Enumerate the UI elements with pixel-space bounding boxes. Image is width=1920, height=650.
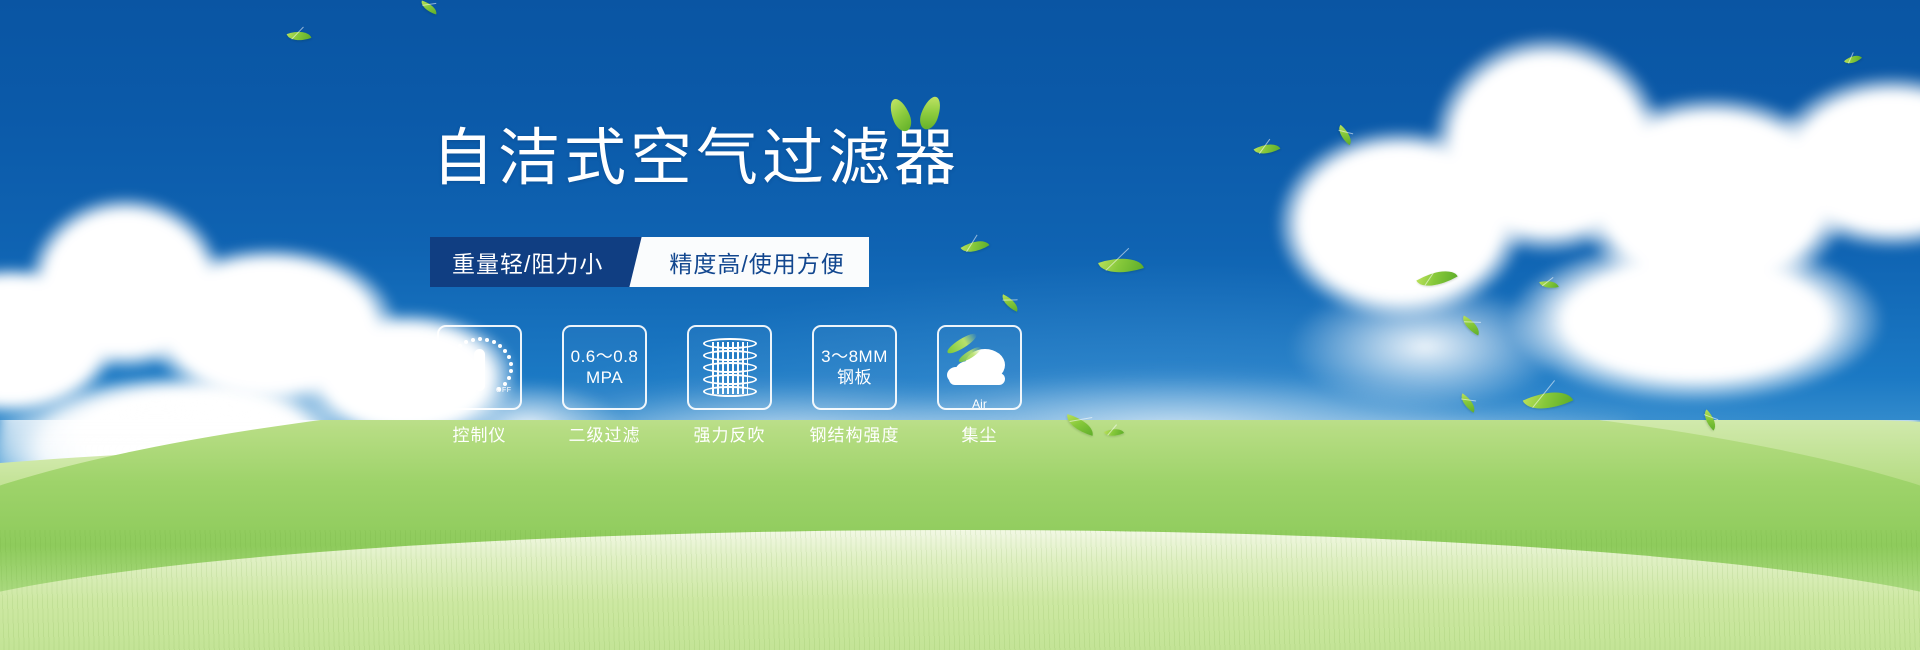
air-cloud-icon: Air: [947, 341, 1013, 395]
subtitle-badge-divider: [629, 237, 663, 287]
feature-label: 集尘: [962, 421, 998, 446]
feature-icon-box: NO OFF: [437, 325, 522, 410]
filter-cartridge-icon: [703, 338, 757, 398]
feature-icon-box: [687, 325, 772, 410]
pressure-text-icon: 0.6～0.8 MPA: [571, 347, 639, 387]
feature-item-pressure: 0.6～0.8 MPA 二级过滤: [557, 325, 652, 446]
feature-icon-box: 0.6～0.8 MPA: [562, 325, 647, 410]
title-block: 自洁式空气过滤器: [432, 128, 960, 190]
steel-text-icon: 3～8MM 钢板: [821, 347, 888, 387]
feature-item-backblow: 强力反吹: [682, 325, 777, 446]
feature-label: 钢结构强度: [810, 421, 900, 446]
title-leaf-left-icon: [886, 96, 914, 134]
gauge-label-off: OFF: [496, 387, 512, 394]
feature-item-steel: 3～8MM 钢板 钢结构强度: [807, 325, 902, 446]
gauge-needle-icon: [474, 349, 485, 391]
feature-list: NO OFF 控制仪 0.6～0.8 MPA 二级过滤: [432, 325, 1027, 446]
title-leaf-right-icon: [917, 94, 945, 132]
feature-item-dust: Air 集尘: [932, 325, 1027, 446]
feature-label: 二级过滤: [569, 421, 641, 446]
page-title: 自洁式空气过滤器: [432, 128, 960, 190]
feature-label: 强力反吹: [694, 421, 766, 446]
title-leaf-icon: [884, 96, 954, 136]
gauge-label-on: NO: [447, 369, 459, 376]
subtitle-badge-right: 精度高/使用方便: [663, 237, 868, 287]
subtitle-badge-group: 重量轻/阻力小 精度高/使用方便: [430, 237, 869, 287]
hero-banner: 自洁式空气过滤器 重量轻/阻力小 精度高/使用方便: [0, 0, 1920, 650]
subtitle-badge-left: 重量轻/阻力小: [430, 237, 629, 287]
banner-content: 自洁式空气过滤器 重量轻/阻力小 精度高/使用方便: [0, 0, 1920, 650]
feature-icon-box: 3～8MM 钢板: [812, 325, 897, 410]
feature-label: 控制仪: [453, 421, 507, 446]
feature-icon-box: Air: [937, 325, 1022, 410]
feature-item-controller: NO OFF 控制仪: [432, 325, 527, 446]
air-label: Air: [947, 397, 1013, 411]
gauge-icon: NO OFF: [447, 337, 513, 399]
